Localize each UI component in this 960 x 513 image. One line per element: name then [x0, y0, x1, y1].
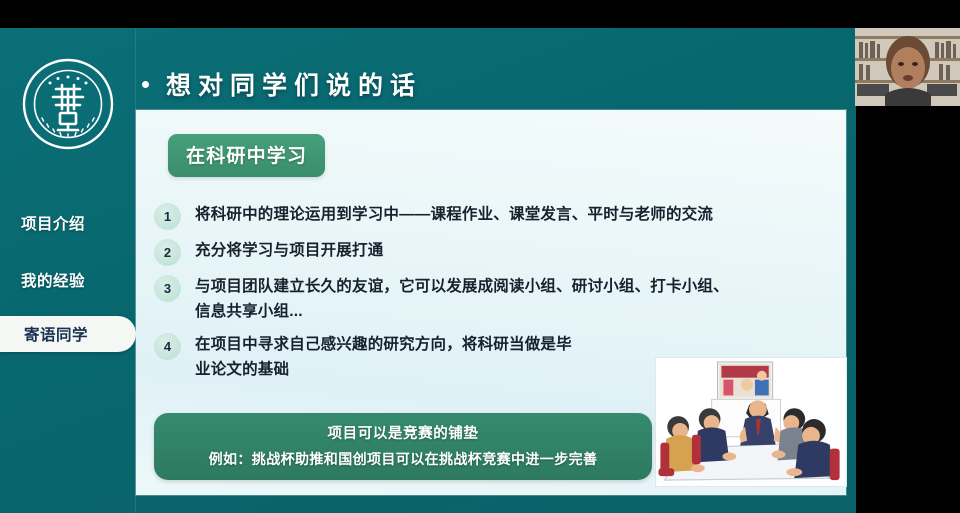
slide-sidebar: 项目介绍 我的经验 寄语同学	[0, 28, 136, 513]
list-item-number: 2	[154, 239, 181, 266]
list-item-line: 信息共享小组...	[195, 299, 729, 324]
banner-line-2: 例如：挑战杯助推和国创项目可以在挑战杯竞赛中进一步完善	[166, 449, 640, 469]
list-item-text: 将科研中的理论运用到学习中——课程作业、课堂发言、平时与老师的交流	[195, 202, 713, 230]
list-item: 1 将科研中的理论运用到学习中——课程作业、课堂发言、平时与老师的交流	[154, 202, 834, 230]
list-item-number: 1	[154, 203, 181, 230]
list-item: 2 充分将学习与项目开展打通	[154, 238, 834, 266]
list-item-line: 业论文的基础	[195, 357, 572, 382]
huazhong-university-seal-icon	[20, 56, 116, 152]
bullet-dot-icon	[142, 81, 149, 88]
presentation-slide: 项目介绍 我的经验 寄语同学 想对同学们说的话 在科研中学习 1 将科研中的理论	[0, 28, 856, 513]
section-heading-pill: 在科研中学习	[168, 134, 325, 177]
banner-line-1: 项目可以是竞赛的铺垫	[166, 422, 640, 443]
sidebar-item-label: 项目介绍	[21, 212, 85, 234]
list-item-text: 充分将学习与项目开展打通	[195, 238, 383, 266]
list-item-text: 与项目团队建立长久的友谊，它可以发展成阅读小组、研讨小组、打卡小组、 信息共享小…	[195, 274, 729, 324]
screen-root: 项目介绍 我的经验 寄语同学 想对同学们说的话 在科研中学习 1 将科研中的理论	[0, 0, 960, 513]
list-item-number: 3	[154, 275, 181, 302]
content-card: 在科研中学习 1 将科研中的理论运用到学习中——课程作业、课堂发言、平时与老师的…	[136, 110, 846, 495]
sidebar-item-label: 我的经验	[21, 269, 85, 291]
page-title: 想对同学们说的话	[166, 66, 422, 102]
list-item-text: 在项目中寻求自己感兴趣的研究方向，将科研当做是毕 业论文的基础	[195, 332, 572, 382]
list-item-line: 充分将学习与项目开展打通	[195, 238, 383, 263]
list-item-line: 与项目团队建立长久的友谊，它可以发展成阅读小组、研讨小组、打卡小组、	[195, 274, 729, 299]
slide-title-row: 想对同学们说的话	[136, 64, 836, 104]
sidebar-item-project-intro[interactable]: 项目介绍	[0, 206, 136, 240]
list-item-line: 将科研中的理论运用到学习中——课程作业、课堂发言、平时与老师的交流	[195, 202, 713, 227]
sidebar-item-my-experience[interactable]: 我的经验	[0, 263, 136, 297]
sidebar-item-message-to-students[interactable]: 寄语同学	[0, 316, 136, 352]
highlight-banner: 项目可以是竞赛的铺垫 例如：挑战杯助推和国创项目可以在挑战杯竞赛中进一步完善	[154, 413, 652, 480]
list-item: 3 与项目团队建立长久的友谊，它可以发展成阅读小组、研讨小组、打卡小组、 信息共…	[154, 274, 834, 324]
presenter-camera-feed[interactable]	[855, 28, 960, 106]
meeting-discussion-clipart	[655, 357, 847, 487]
list-item-number: 4	[154, 333, 181, 360]
list-item-line: 在项目中寻求自己感兴趣的研究方向，将科研当做是毕	[195, 332, 572, 357]
sidebar-item-label: 寄语同学	[24, 323, 88, 345]
